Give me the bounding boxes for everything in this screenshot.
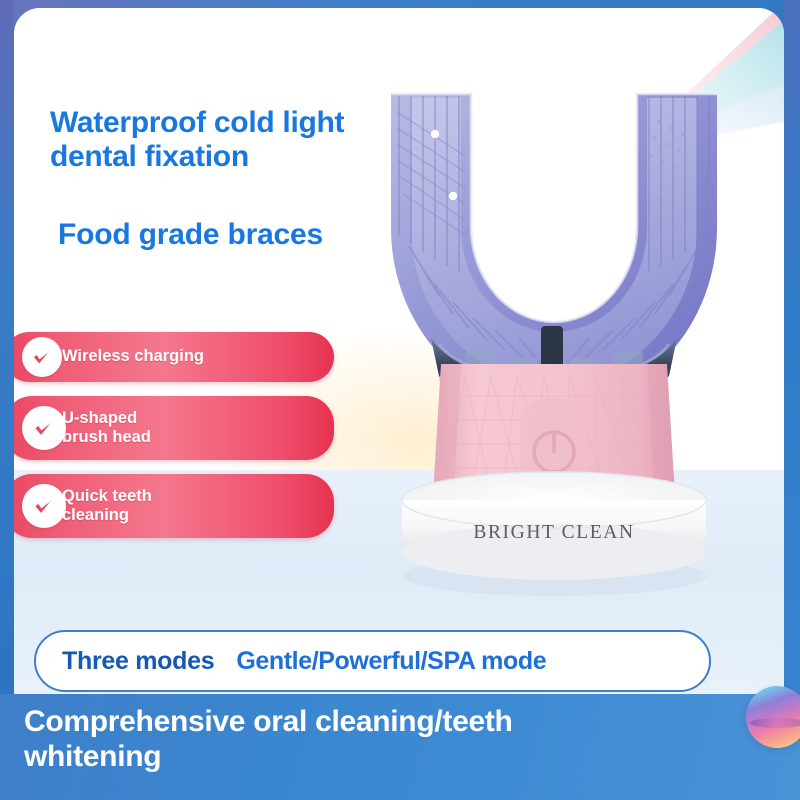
- three-modes-bar[interactable]: Three modes Gentle/Powerful/SPA mode: [34, 630, 711, 692]
- charging-base: BRIGHT CLEAN: [402, 472, 706, 580]
- feature-list: Wireless charging U-shaped brush head Qu…: [14, 332, 334, 552]
- modes-value: Gentle/Powerful/SPA mode: [236, 647, 546, 676]
- product-poster: Waterproof cold light dental fixation Fo…: [0, 0, 800, 800]
- check-icon: [22, 406, 66, 450]
- feature-pill-label: Quick teeth cleaning: [62, 487, 152, 525]
- footer-text: Comprehensive oral cleaning/teeth whiten…: [24, 704, 714, 775]
- check-icon: [22, 484, 66, 528]
- frame-edge-left: [0, 0, 14, 800]
- feature-pill-label: U-shaped brush head: [62, 409, 151, 447]
- check-icon: [22, 337, 62, 377]
- main-card: Waterproof cold light dental fixation Fo…: [14, 8, 784, 695]
- footer-line-1: Comprehensive oral cleaning/teeth: [24, 704, 714, 739]
- modes-title: Three modes: [62, 647, 214, 676]
- feature-pill-quick-teeth-cleaning[interactable]: Quick teeth cleaning: [14, 474, 334, 538]
- product-image: BRIGHT CLEAN: [369, 76, 739, 616]
- feature-pill-wireless-charging[interactable]: Wireless charging: [14, 332, 334, 382]
- feature-pill-label: Wireless charging: [62, 347, 204, 366]
- decorative-sphere: [746, 686, 800, 748]
- footer-band: Comprehensive oral cleaning/teeth whiten…: [0, 694, 800, 800]
- feature-pill-u-shaped-brush-head[interactable]: U-shaped brush head: [14, 396, 334, 460]
- frame-edge-right: [784, 0, 800, 800]
- brand-text: BRIGHT CLEAN: [473, 522, 634, 543]
- footer-line-2: whitening: [24, 739, 714, 774]
